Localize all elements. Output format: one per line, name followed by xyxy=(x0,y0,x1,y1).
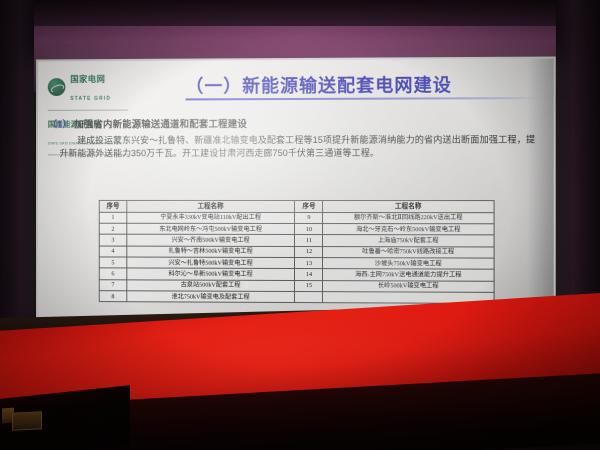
td-name-left: 古泉站500kV配套工程 xyxy=(127,280,295,292)
td-seq-right: 9 xyxy=(295,212,323,223)
td-name-right: 上海庙750kV配套工程 xyxy=(323,235,494,247)
projects-table: 序号 工程名称 序号 工程名称 1宁夏永丰330kV变电站110kV配出工程9额… xyxy=(99,200,495,304)
td-seq-left: 1 xyxy=(99,212,126,223)
td-seq-left: 8 xyxy=(99,291,126,302)
th-seq-right: 序号 xyxy=(295,201,323,213)
td-name-left: 扎鲁特～吉林500kV输变电工程 xyxy=(127,246,295,258)
td-name-right: 额尔齐斯～准北Ⅱ回线路220kV送出工程 xyxy=(323,212,494,224)
th-name-left: 工程名称 xyxy=(127,200,295,212)
td-name-right: 沙坡头750kV输变电工程 xyxy=(323,258,494,270)
td-seq-right: 15 xyxy=(295,280,323,291)
td-seq-left: 7 xyxy=(99,279,126,290)
table-row: 3兴安～齐南500kV输变电工程11上海庙750kV配套工程 xyxy=(99,235,494,247)
title-underline xyxy=(186,97,540,100)
td-name-right: 吐鲁番～哈密750kV线路改接工程 xyxy=(323,246,494,258)
ceiling xyxy=(0,0,600,26)
td-seq-right: 14 xyxy=(295,269,323,280)
conference-hall-photo: 国家电网 STATE GRID 国网能源研究院 STATE GRID ENERG… xyxy=(0,0,600,450)
section-bullet: （1） 加强省内新能源输送通道和配套工程建设 xyxy=(48,115,548,130)
td-seq-left: 3 xyxy=(99,235,126,246)
state-grid-globe-icon xyxy=(48,78,66,96)
slide-header: 国家电网 STATE GRID 国网能源研究院 STATE GRID ENERG… xyxy=(38,59,554,111)
td-seq-right: 11 xyxy=(295,235,323,246)
table-row: 8淮北750kV输变电及配套工程 xyxy=(99,291,494,304)
td-seq-left: 4 xyxy=(99,246,126,257)
presentation-slide: 国家电网 STATE GRID 国网能源研究院 STATE GRID ENERG… xyxy=(38,59,554,324)
logo-org-name-cn: 国家电网 xyxy=(70,74,105,84)
logo-divider xyxy=(48,110,129,111)
td-name-right: 海北～牙克石～岭东500kV输变电工程 xyxy=(323,224,494,236)
left-wall xyxy=(0,0,34,340)
td-seq-right xyxy=(295,291,323,302)
td-name-left: 宁夏永丰330kV变电站110kV配出工程 xyxy=(127,212,295,223)
td-name-left: 东北电网岭东～冯屯500kV输变电工程 xyxy=(127,223,295,235)
projects-table-body: 1宁夏永丰330kV变电站110kV配出工程9额尔齐斯～准北Ⅱ回线路220kV送… xyxy=(99,212,494,304)
td-seq-right: 13 xyxy=(295,258,323,269)
td-name-right: 长岭500kV输变电工程 xyxy=(323,280,494,292)
td-seq-left: 2 xyxy=(99,223,126,234)
table-row: 1宁夏永丰330kV变电站110kV配出工程9额尔齐斯～准北Ⅱ回线路220kV送… xyxy=(99,212,494,224)
td-seq-right: 10 xyxy=(295,224,323,235)
table-row: 2东北电网岭东～冯屯500kV输变电工程10海北～牙克石～岭东500kV输变电工… xyxy=(99,223,494,235)
td-seq-right: 12 xyxy=(295,246,323,257)
td-name-right: 海西-主网750kV送电通道能力提升工程 xyxy=(323,269,494,281)
td-seq-left: 6 xyxy=(99,268,126,279)
bullet-label: 加强省内新能源输送通道和配套工程建设 xyxy=(75,116,248,130)
stage-object xyxy=(12,411,42,431)
slide-title: （一）新能源输送配套电网建设 xyxy=(186,71,538,99)
td-name-left: 兴安～扎鲁特500kV输变电工程 xyxy=(127,257,295,269)
td-seq-left: 5 xyxy=(99,257,126,268)
td-name-left: 淮北750kV输变电及配套工程 xyxy=(127,291,295,303)
td-name-left: 科尔沁～阜新500kV输变电工程 xyxy=(127,268,295,280)
slide-paragraph: 建成投运蒙东兴安～扎鲁特、新疆准北输变电及配套工程等15项提升新能源消纳能力的省… xyxy=(60,133,536,160)
projects-table-wrapper: 序号 工程名称 序号 工程名称 1宁夏永丰330kV变电站110kV配出工程9额… xyxy=(99,200,495,304)
table-header-row: 序号 工程名称 序号 工程名称 xyxy=(99,200,494,212)
th-name-right: 工程名称 xyxy=(323,201,494,213)
projection-screen: 国家电网 STATE GRID 国网能源研究院 STATE GRID ENERG… xyxy=(36,57,556,326)
td-name-left: 兴安～齐南500kV输变电工程 xyxy=(127,235,295,247)
bullet-number: （1） xyxy=(48,117,72,131)
logo-org-name-en: STATE GRID xyxy=(70,96,111,102)
th-seq-left: 序号 xyxy=(99,200,126,212)
